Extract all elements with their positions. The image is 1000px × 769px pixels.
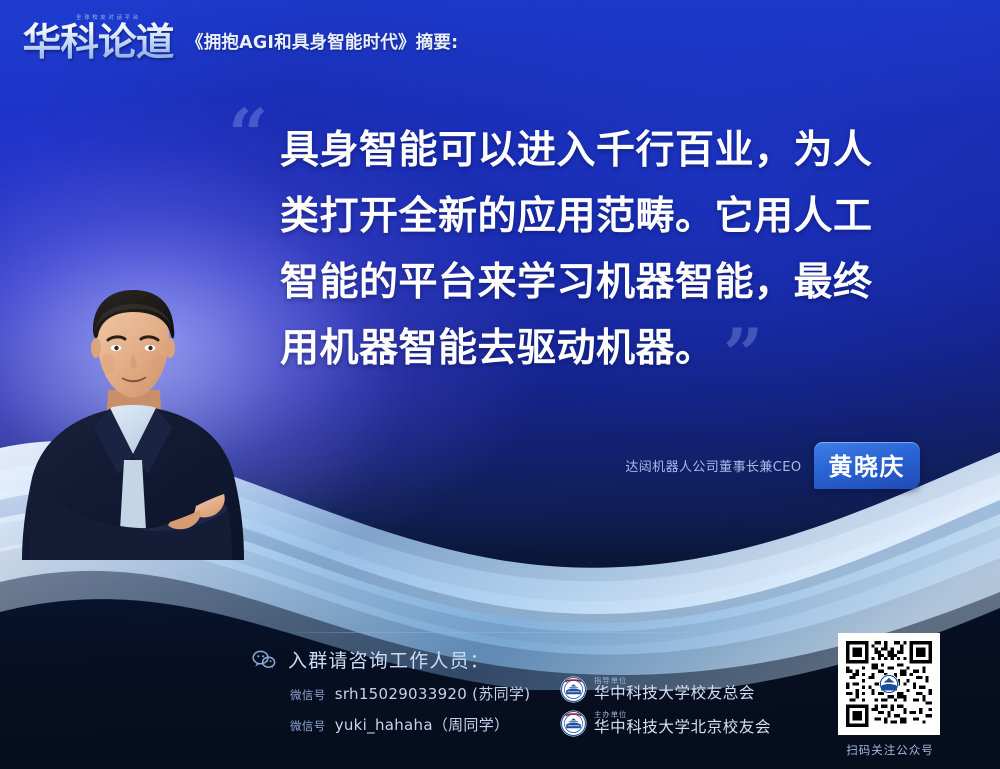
quote-text: 具身智能可以进入千行百业，为人 类打开全新的应用范畴。它用人工 智能的平台来学习… [280,118,940,382]
speaker-name-badge: 黄晓庆 [814,442,921,489]
attribution: 达闼机器人公司董事长兼CEO 黄晓庆 [625,442,920,489]
contact-title: 入群请咨询工作人员： [288,646,490,673]
quote-close-mark: ” [723,320,763,390]
poster-root: 全球校友对话平台 华科论道 《拥抱AGI和具身智能时代》摘要: “ 具身智能可以… [0,0,1000,769]
org-name: 华中科技大学北京校友会 [594,720,771,736]
org-kind: 指导单位 [594,677,755,685]
wechat-icon [252,650,276,670]
brand-logo[interactable]: 全球校友对话平台 华科论道 [24,14,172,63]
footer-divider [290,632,780,633]
contact-label: 微信号 [290,718,326,734]
logo-wordmark: 华科论道 [23,14,174,63]
contact-value[interactable]: yuki_hahaha（周同学） [335,714,510,735]
quote-line: 具身智能可以进入千行百业，为人 [280,118,940,184]
org-texts: 指导单位 华中科技大学校友总会 [594,677,755,702]
qr-block: 扫码关注公众号 [838,633,942,758]
contact-value[interactable]: srh15029033920 (苏同学) [335,683,531,704]
org-row: 指导单位 华中科技大学校友总会 [560,672,771,706]
contact-label: 微信号 [290,687,326,703]
header: 全球校友对话平台 华科论道 《拥抱AGI和具身智能时代》摘要: [24,14,458,63]
page-title: 《拥抱AGI和具身智能时代》摘要: [186,29,458,63]
org-kind: 主办单位 [594,711,771,719]
quote-line: 智能的平台来学习机器智能，最终 [280,250,940,316]
quote-open-mark: “ [228,100,268,170]
speaker-role: 达闼机器人公司董事长兼CEO [625,456,801,475]
org-texts: 主办单位 华中科技大学北京校友会 [594,711,771,736]
speaker-portrait [20,278,246,560]
quote-line: 类打开全新的应用范畴。它用人工 [280,184,940,250]
org-row: 主办单位 华中科技大学北京校友会 [560,706,771,740]
qr-code-image[interactable] [838,633,940,735]
qr-caption: 扫码关注公众号 [838,742,942,758]
hust-emblem-icon [560,710,587,737]
org-name: 华中科技大学校友总会 [594,686,755,702]
quote-line: 用机器智能去驱动机器。 [280,316,940,382]
hust-emblem-icon [560,676,587,703]
organisations: 指导单位 华中科技大学校友总会 主办单位 华中科技大学北京校友会 [560,672,771,740]
contact-heading: 入群请咨询工作人员： [252,646,812,673]
